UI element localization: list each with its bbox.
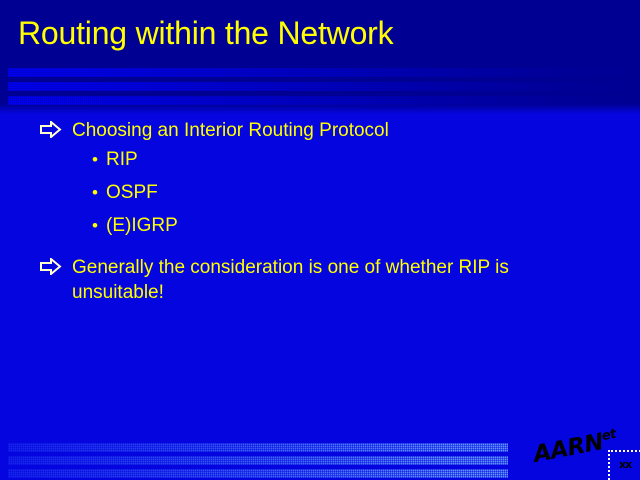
bullet-dot-icon: • (92, 143, 106, 176)
decorative-bar-bottom-3 (8, 469, 508, 478)
decorative-bar-top-1 (8, 68, 632, 77)
sub-bullet-label: RIP (106, 143, 138, 176)
slide-content: Choosing an Interior Routing Protocol • … (0, 118, 640, 305)
decorative-bar-bottom-1 (8, 443, 508, 452)
sub-bullet-label: (E)IGRP (106, 209, 178, 242)
aarnet-logo-main: AARN (531, 429, 605, 468)
bullet-level1-label: Generally the consideration is one of wh… (72, 255, 572, 305)
bullet-level1: Generally the consideration is one of wh… (0, 255, 640, 305)
hollow-right-arrow-icon (40, 258, 62, 275)
decorative-bar-bottom-2 (8, 456, 508, 465)
aarnet-logo-suffix: et (601, 427, 618, 444)
sub-bullet-list: • RIP • OSPF • (E)IGRP (0, 143, 640, 242)
header-gradient-fade (0, 104, 640, 114)
bullet-dot-icon: • (92, 209, 106, 242)
bullet-dot-icon: • (92, 176, 106, 209)
page-number-placeholder-box: xx (608, 450, 640, 480)
decorative-bar-top-2 (8, 82, 632, 91)
bullet-level1: Choosing an Interior Routing Protocol (0, 118, 640, 143)
list-item: • (E)IGRP (0, 209, 640, 242)
content-block: Choosing an Interior Routing Protocol • … (0, 118, 640, 242)
decorative-bar-top-3 (8, 96, 632, 105)
content-block: Generally the consideration is one of wh… (0, 255, 640, 305)
slide-title: Routing within the Network (18, 14, 618, 52)
slide-canvas: Routing within the Network Choosing an I… (0, 0, 640, 480)
list-item: • RIP (0, 143, 640, 176)
bullet-level1-label: Choosing an Interior Routing Protocol (72, 118, 389, 143)
aarnet-logo: AARNet (530, 423, 615, 474)
hollow-right-arrow-icon (40, 121, 62, 138)
list-item: • OSPF (0, 176, 640, 209)
page-number-text: xx (619, 459, 631, 471)
sub-bullet-label: OSPF (106, 176, 158, 209)
